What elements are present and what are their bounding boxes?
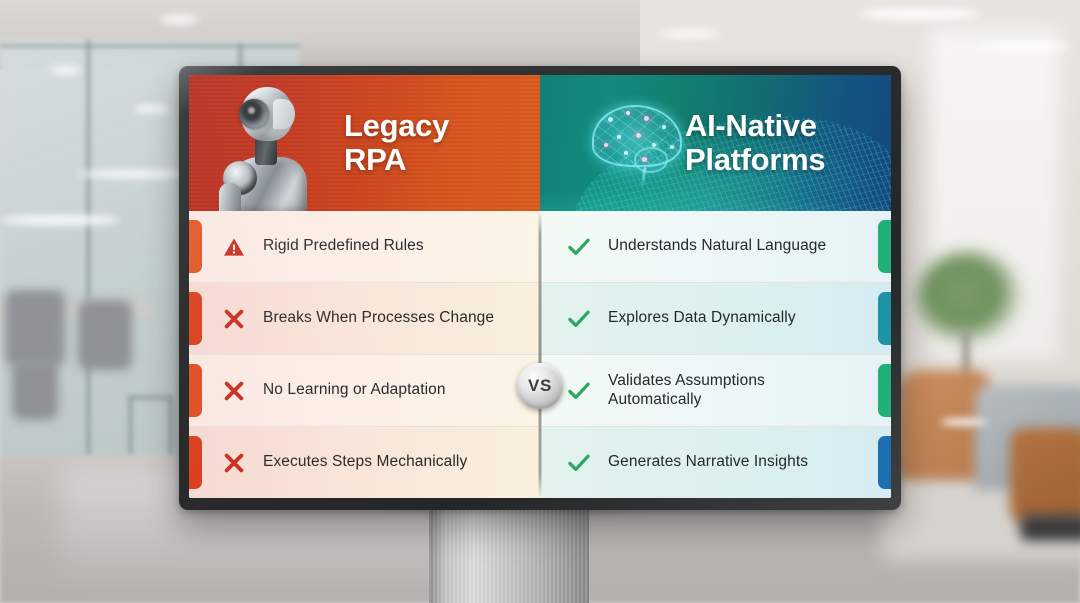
- ceiling-light: [135, 105, 169, 113]
- row-3-right-tab: [878, 364, 891, 417]
- row-1-right-cell: Understands Natural Language: [540, 211, 891, 282]
- row-4-left-tab: [189, 436, 202, 489]
- monitor-bezel: Legacy RPA: [179, 66, 901, 510]
- header-right-title-line2: Platforms: [685, 143, 825, 177]
- lounge-chair: [1010, 428, 1080, 523]
- ceiling-light: [50, 66, 80, 74]
- row-2-right-label: Explores Data Dynamically: [608, 309, 826, 328]
- ceiling-light-strip: [980, 42, 1070, 51]
- row-4-left-label: Executes Steps Mechanically: [263, 453, 497, 472]
- row-2-left-tab: [189, 292, 202, 345]
- cross-icon: [219, 304, 249, 334]
- monitor-stand: [429, 505, 589, 603]
- row-1-right-label: Understands Natural Language: [608, 237, 856, 256]
- neural-brain-icon: [582, 95, 692, 191]
- header-ai-native: AI-Native Platforms: [540, 75, 891, 211]
- header-right-title: AI-Native Platforms: [685, 109, 825, 177]
- office-chair: [78, 300, 132, 370]
- humanoid-robot-icon: [211, 83, 329, 211]
- center-divider: [539, 211, 542, 498]
- glass-header-rail: [0, 44, 300, 48]
- office-chair-base: [12, 360, 58, 420]
- row-4-right-tab: [878, 436, 891, 489]
- door-handle: [128, 395, 172, 400]
- ceiling-light-strip: [78, 170, 188, 178]
- row-1-right-tab: [878, 220, 891, 273]
- row-1-left-label: Rigid Predefined Rules: [263, 237, 454, 256]
- office-chair: [5, 290, 65, 366]
- row-2-right-tab: [878, 292, 891, 345]
- check-icon: [564, 376, 594, 406]
- header-left-title-line2: RPA: [344, 143, 449, 177]
- row-4-right-cell: Generates Narrative Insights: [540, 427, 891, 498]
- cross-icon: [219, 448, 249, 478]
- ceiling-light-strip: [0, 215, 120, 225]
- vs-badge: VS: [517, 363, 563, 409]
- row-2-left-label: Breaks When Processes Change: [263, 309, 524, 328]
- ceiling-light: [660, 30, 720, 38]
- row-3-left-cell: No Learning or Adaptation: [189, 355, 540, 426]
- row-2-right-cell: Explores Data Dynamically: [540, 283, 891, 354]
- ceiling-light: [160, 15, 198, 24]
- chair-base: [1020, 515, 1080, 541]
- row-1-left-cell: Rigid Predefined Rules: [189, 211, 540, 282]
- check-icon: [564, 448, 594, 478]
- row-3-right-label: Validates Assumptions Automatically: [608, 372, 823, 410]
- warning-triangle-icon: [219, 232, 249, 262]
- comparison-headers: Legacy RPA: [189, 75, 891, 211]
- screen: Legacy RPA: [189, 75, 891, 498]
- row-3-left-label: No Learning or Adaptation: [263, 381, 476, 400]
- row-2-left-cell: Breaks When Processes Change: [189, 283, 540, 354]
- header-left-title-line1: Legacy: [344, 109, 449, 143]
- comparison-table: Rigid Predefined Rules Understands Natur…: [189, 211, 891, 498]
- check-icon: [564, 232, 594, 262]
- row-1-left-tab: [189, 220, 202, 273]
- display-monitor: Legacy RPA: [179, 66, 901, 510]
- header-legacy-rpa: Legacy RPA: [189, 75, 540, 211]
- side-table: [940, 418, 988, 426]
- check-icon: [564, 304, 594, 334]
- row-3-left-tab: [189, 364, 202, 417]
- row-4-right-label: Generates Narrative Insights: [608, 453, 838, 472]
- header-right-title-line1: AI-Native: [685, 109, 825, 143]
- ceiling-light-strip: [860, 8, 980, 20]
- row-4-left-cell: Executes Steps Mechanically: [189, 427, 540, 498]
- cross-icon: [219, 376, 249, 406]
- glass-mullion: [86, 40, 91, 510]
- header-left-title: Legacy RPA: [344, 109, 449, 177]
- row-3-right-cell: Validates Assumptions Automatically: [540, 355, 891, 426]
